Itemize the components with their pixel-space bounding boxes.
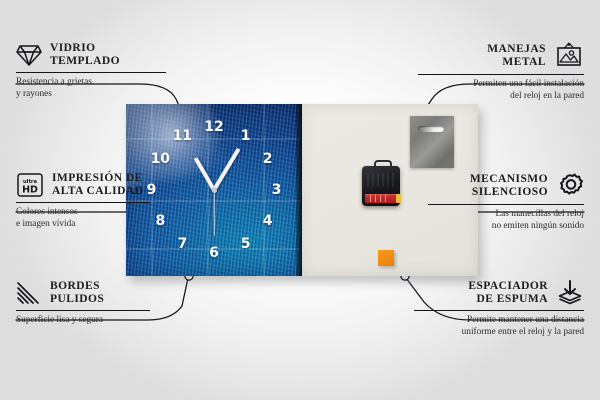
clock-numeral: 6 <box>209 246 219 260</box>
clock-front-face: 12 1 2 3 4 5 6 7 8 9 10 11 <box>126 104 302 276</box>
feature-rule <box>418 74 584 75</box>
clock-numeral: 3 <box>272 183 282 197</box>
feature-mecanismo-silencioso: MECANISMO SILENCIOSO Las manecillas del … <box>428 172 584 232</box>
battery-contact <box>396 194 401 203</box>
second-hand <box>213 190 214 236</box>
clock-numeral: 8 <box>155 214 165 228</box>
movement-detail <box>367 173 395 187</box>
feature-description: Resistencia a grietas y rayones <box>16 77 166 100</box>
infographic-canvas: 12 1 2 3 4 5 6 7 8 9 10 11 <box>0 0 600 400</box>
feature-description: Permite mantener una distancia uniforme … <box>414 315 584 338</box>
feature-title: IMPRESIÓN DE ALTA CALIDAD <box>52 172 143 198</box>
quartz-movement <box>362 166 400 206</box>
feature-title: ESPACIADOR DE ESPUMA <box>414 280 548 306</box>
feature-rule <box>16 310 150 311</box>
clock-numeral: 2 <box>263 152 273 166</box>
feature-description: Las manecillas del reloj no emiten ningú… <box>428 209 584 232</box>
svg-text:HD: HD <box>22 185 38 196</box>
feature-rule <box>16 72 166 73</box>
clock-numeral: 10 <box>151 152 170 166</box>
feature-header: VIDRIO TEMPLADO <box>16 42 166 68</box>
feature-header: MECANISMO SILENCIOSO <box>428 172 584 200</box>
feature-description: Colores intensos e imagen vívida <box>16 207 150 230</box>
feature-description: Permiten una fácil instalación del reloj… <box>418 79 584 102</box>
feature-bordes-pulidos: BORDES PULIDOS Superficie lisa y segura <box>16 280 150 327</box>
battery-label <box>365 194 397 203</box>
feature-header: MANEJAS METAL <box>418 42 584 70</box>
feature-title: MANEJAS METAL <box>418 43 546 69</box>
ultra-hd-icon: ultra HD <box>16 172 44 198</box>
feature-title: MECANISMO SILENCIOSO <box>428 173 548 199</box>
feature-manejas-metal: MANEJAS METAL Permiten una fácil instala… <box>418 42 584 102</box>
feature-vidrio-templado: VIDRIO TEMPLADO Resistencia a grietas y … <box>16 42 166 100</box>
feature-espaciador-espuma: ESPACIADOR DE ESPUMA Permite mantener un… <box>414 280 584 338</box>
movement-hook <box>374 160 392 170</box>
feature-title: VIDRIO TEMPLADO <box>50 42 120 68</box>
polished-edge-icon <box>16 281 42 305</box>
feature-title: BORDES PULIDOS <box>50 280 104 306</box>
feature-header: ultra HD IMPRESIÓN DE ALTA CALIDAD <box>16 172 150 198</box>
feature-description: Superficie lisa y segura <box>16 315 150 326</box>
clock-numeral: 12 <box>204 120 223 134</box>
foam-spacer <box>378 250 394 266</box>
clock-numeral: 4 <box>263 214 273 228</box>
foam-spacer-icon <box>556 280 584 306</box>
clock-numeral: 5 <box>241 237 251 251</box>
feature-rule <box>414 310 584 311</box>
feature-header: ESPACIADOR DE ESPUMA <box>414 280 584 306</box>
clock-numeral: 7 <box>177 237 187 251</box>
hanging-frame-icon <box>554 42 584 70</box>
product-image: 12 1 2 3 4 5 6 7 8 9 10 11 <box>126 104 478 276</box>
hanger-slot <box>418 126 444 132</box>
clock-numeral: 1 <box>241 129 251 143</box>
hands-pivot <box>212 188 217 193</box>
feature-header: BORDES PULIDOS <box>16 280 150 306</box>
clock-numeral: 11 <box>173 129 192 143</box>
metal-hanger <box>410 116 454 168</box>
gear-icon <box>556 172 584 200</box>
diamond-icon <box>16 43 42 67</box>
feature-rule <box>428 204 584 205</box>
feature-rule <box>16 202 150 203</box>
feature-impresion-alta-calidad: ultra HD IMPRESIÓN DE ALTA CALIDAD Color… <box>16 172 150 230</box>
